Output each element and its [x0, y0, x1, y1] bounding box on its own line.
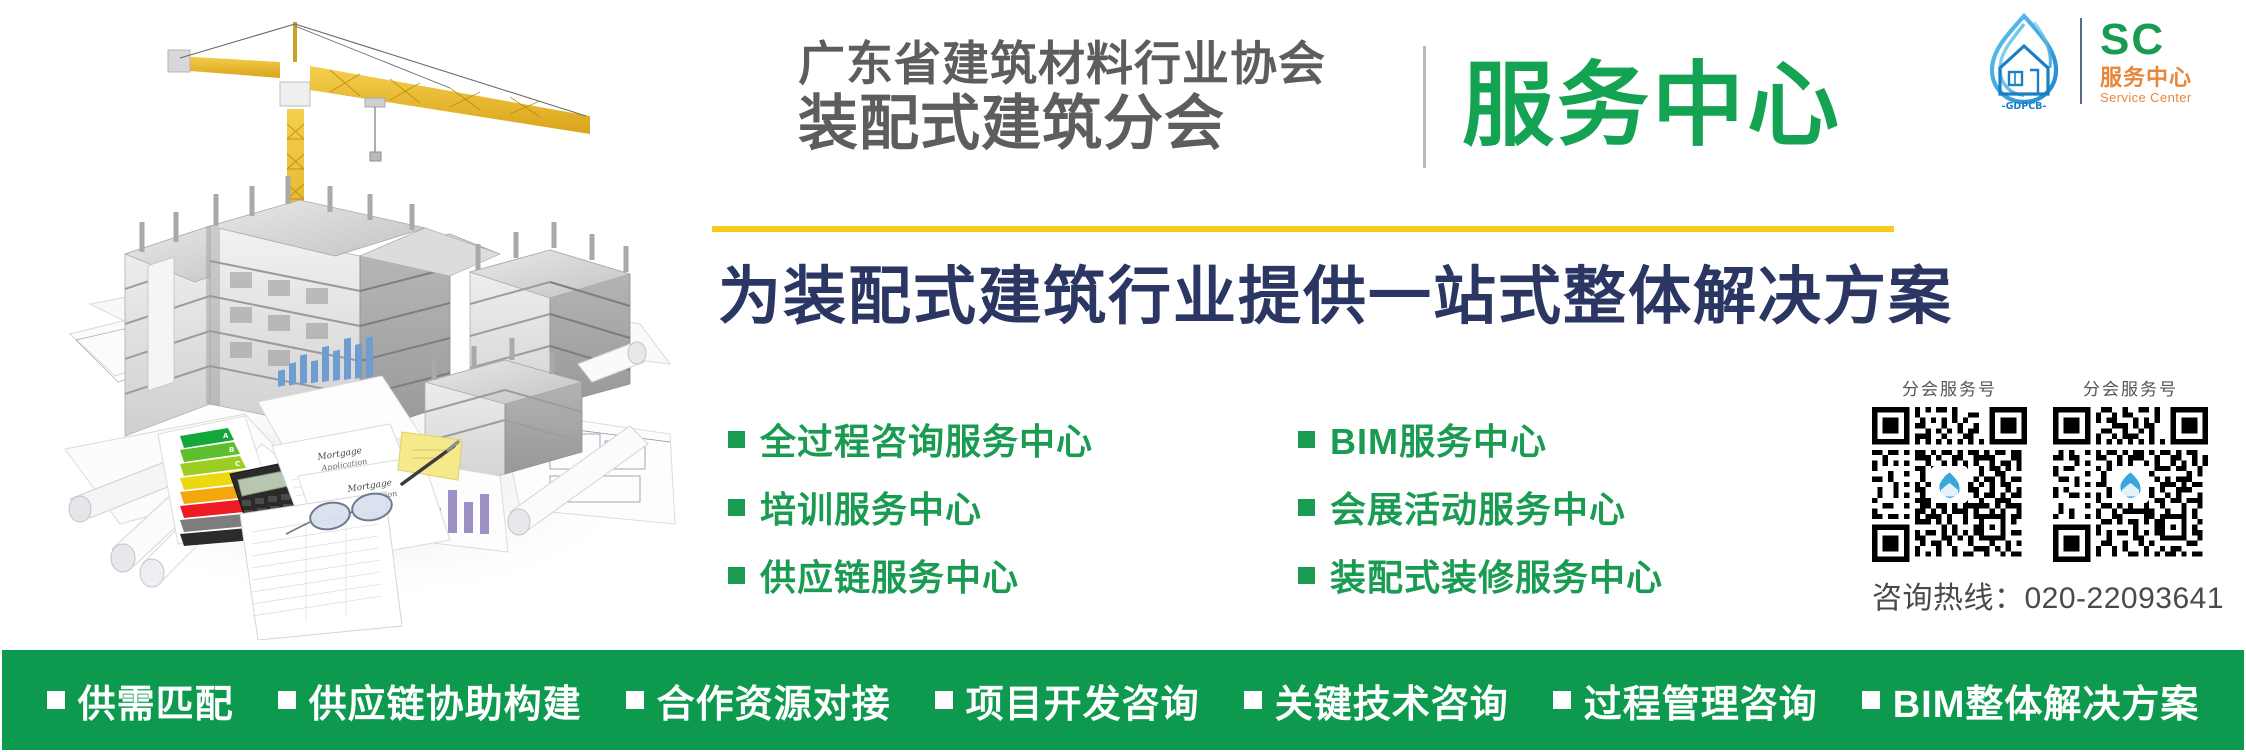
- service-center-heading: 服务中心: [1462, 56, 1842, 156]
- square-bullet-icon: [278, 691, 296, 709]
- service-item[interactable]: 供应链服务中心: [728, 541, 1093, 609]
- service-item-label: 装配式装修服务中心: [1330, 549, 1663, 601]
- hotline-text: 咨询热线：020-22093641: [1872, 573, 2232, 617]
- qr-code-label: 分会服务号: [2053, 380, 2208, 400]
- bottom-bar-item-label: 供应链协助构建: [309, 673, 582, 728]
- service-item-label: 会展活动服务中心: [1330, 481, 1626, 533]
- gdpcb-logo: -GDPCB-: [1978, 12, 2070, 112]
- square-bullet-icon: [1244, 691, 1262, 709]
- brand-logo-group: -GDPCB- SC 服务中心 Service Center: [1972, 8, 2228, 116]
- square-bullet-icon: [1862, 691, 1880, 709]
- sc-letters: SC: [2100, 18, 2226, 62]
- sc-logo-chinese-label: 服务中心: [2100, 65, 2226, 90]
- service-item-label: BIM服务中心: [1330, 413, 1547, 465]
- qr-code-cell: 分会服务号: [1872, 380, 2027, 562]
- association-name-line2: 装配式建筑分会: [798, 92, 1398, 156]
- qr-code-block: 分会服务号: [1872, 380, 2232, 617]
- bottom-bar-item[interactable]: 供需匹配: [47, 673, 234, 728]
- qr-code-cell: 分会服务号: [2053, 380, 2208, 562]
- qr-code-label: 分会服务号: [1872, 380, 2027, 400]
- qr-code-row: 分会服务号: [1872, 380, 2232, 562]
- gdpcb-house-flame-icon: -GDPCB-: [1978, 12, 2070, 112]
- service-item-label: 全过程咨询服务中心: [760, 413, 1093, 465]
- square-bullet-icon: [728, 499, 745, 516]
- logo-vertical-divider: [2080, 18, 2082, 104]
- title-vertical-divider: [1423, 46, 1426, 168]
- bottom-bar-items: 供需匹配 供应链协助构建 合作资源对接 项目开发咨询 关键技术咨询 过程管理咨询…: [25, 673, 2222, 728]
- construction-render-svg: ABC DEF GH: [30, 4, 690, 640]
- bottom-bar-item-label: 供需匹配: [78, 673, 234, 728]
- square-bullet-icon: [1298, 431, 1315, 448]
- svg-text:B: B: [229, 446, 234, 454]
- association-name-line1: 广东省建筑材料行业协会: [798, 38, 1398, 90]
- bottom-bar-item[interactable]: 合作资源对接: [626, 673, 891, 728]
- bottom-bar-item-label: 关键技术咨询: [1275, 673, 1509, 728]
- bottom-bar-item[interactable]: 过程管理咨询: [1553, 673, 1818, 728]
- bottom-bar-item-label: 合作资源对接: [657, 673, 891, 728]
- construction-site-illustration: ABC DEF GH: [30, 4, 690, 640]
- service-item-label: 培训服务中心: [760, 481, 982, 533]
- header-title-block: 广东省建筑材料行业协会 装配式建筑分会 服务中心: [700, 38, 1900, 198]
- bottom-green-bar: 供需匹配 供应链协助构建 合作资源对接 项目开发咨询 关键技术咨询 过程管理咨询…: [2, 650, 2244, 750]
- svg-text:C: C: [235, 460, 240, 468]
- square-bullet-icon: [728, 567, 745, 584]
- qr-code-branch-service-2[interactable]: [2053, 407, 2208, 562]
- service-item[interactable]: 全过程咨询服务中心: [728, 405, 1093, 473]
- square-bullet-icon: [1298, 499, 1315, 516]
- square-bullet-icon: [1553, 691, 1571, 709]
- bottom-bar-item-label: BIM整体解决方案: [1893, 673, 2200, 728]
- gdpcb-label: -GDPCB-: [2002, 101, 2047, 112]
- qr-code-branch-service-1[interactable]: [1872, 407, 2027, 562]
- square-bullet-icon: [626, 691, 644, 709]
- square-bullet-icon: [47, 691, 65, 709]
- square-bullet-icon: [728, 431, 745, 448]
- bottom-bar-item-label: 过程管理咨询: [1584, 673, 1818, 728]
- bottom-bar-item[interactable]: BIM整体解决方案: [1862, 673, 2200, 728]
- service-item[interactable]: 培训服务中心: [728, 473, 1093, 541]
- sc-logo-english-label: Service Center: [2100, 90, 2226, 105]
- service-list-right: BIM服务中心 会展活动服务中心 装配式装修服务中心: [1298, 405, 1663, 609]
- sc-logo-group: SC 服务中心 Service Center: [2100, 18, 2226, 105]
- bottom-bar-item-label: 项目开发咨询: [966, 673, 1200, 728]
- bottom-bar-item[interactable]: 供应链协助构建: [278, 673, 582, 728]
- service-item-label: 供应链服务中心: [760, 549, 1019, 601]
- service-item[interactable]: 装配式装修服务中心: [1298, 541, 1663, 609]
- bottom-bar-item[interactable]: 关键技术咨询: [1244, 673, 1509, 728]
- bottom-bar-item[interactable]: 项目开发咨询: [935, 673, 1200, 728]
- service-list-left: 全过程咨询服务中心 培训服务中心 供应链服务中心: [728, 405, 1093, 609]
- square-bullet-icon: [935, 691, 953, 709]
- banner-subtitle: 为装配式建筑行业提供一站式整体解决方案: [718, 262, 1953, 332]
- association-name: 广东省建筑材料行业协会 装配式建筑分会: [798, 38, 1398, 156]
- svg-text:A: A: [223, 432, 229, 440]
- service-item[interactable]: BIM服务中心: [1298, 405, 1663, 473]
- square-bullet-icon: [1298, 567, 1315, 584]
- gold-divider-rule: [712, 226, 1894, 232]
- service-item[interactable]: 会展活动服务中心: [1298, 473, 1663, 541]
